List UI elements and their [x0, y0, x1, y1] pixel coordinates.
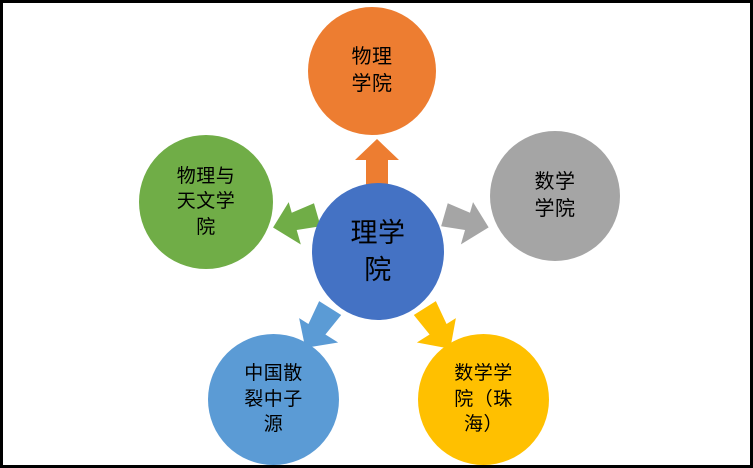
arrow-up-icon — [355, 139, 399, 185]
node-math-label: 数学 学院 — [529, 169, 582, 223]
node-physics[interactable]: 物理 学院 — [308, 7, 436, 135]
node-csns[interactable]: 中国散 裂中子 源 — [208, 334, 339, 465]
node-math[interactable]: 数学 学院 — [490, 131, 620, 261]
node-math-zhuhai[interactable]: 数学学 院（珠 海） — [418, 334, 549, 465]
node-csns-label: 中国散 裂中子 源 — [238, 361, 309, 437]
node-center-science-college[interactable]: 理学 院 — [312, 183, 444, 320]
node-physics-astronomy[interactable]: 物理与 天文学 院 — [139, 135, 273, 269]
node-physics-label: 物理 学院 — [346, 44, 399, 98]
diagram-canvas: 物理 学院 物理与 天文学 院 数学 学院 中国散 裂中子 源 数学学 院（珠 … — [0, 0, 753, 468]
node-math-zhuhai-label: 数学学 院（珠 海） — [448, 361, 519, 437]
node-center-label: 理学 院 — [345, 215, 412, 287]
node-physics-astronomy-label: 物理与 天文学 院 — [171, 164, 242, 240]
arrow-right-icon — [441, 197, 491, 249]
